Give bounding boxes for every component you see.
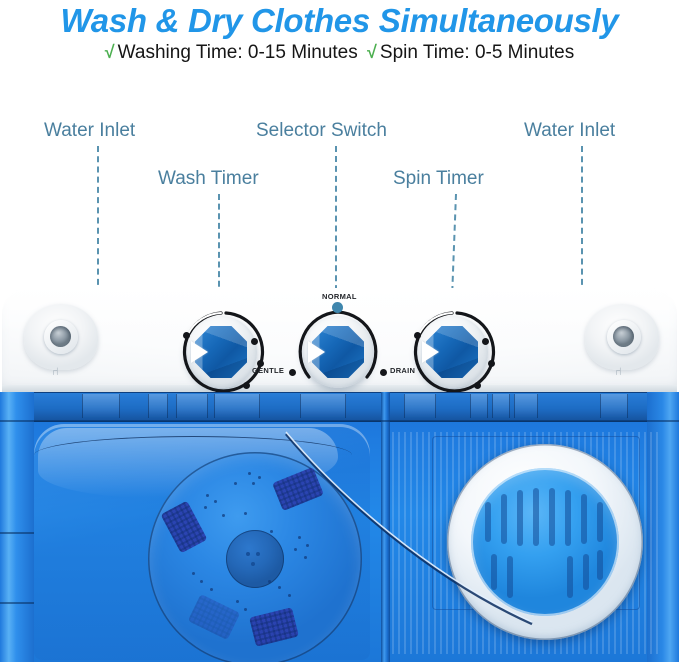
band-segment (176, 394, 208, 418)
knob-scale-mark (474, 382, 481, 389)
band-segment (600, 394, 628, 418)
selector-mark-gentle (289, 369, 296, 376)
wash-selector-scale-arc (291, 305, 385, 399)
knob-scale-mark (251, 338, 258, 345)
knob-scale-mark (183, 332, 190, 339)
selector-mark-drain (380, 369, 387, 376)
band-segment (214, 394, 260, 418)
inlet-glyph-icon: ⑁ (615, 366, 622, 378)
band-segment (470, 394, 488, 418)
inlet-glyph-icon: ⑁ (52, 366, 59, 378)
check-icon: √ (367, 42, 377, 62)
subtitle-row: √Washing Time: 0-15 Minutes √Spin Time: … (0, 40, 679, 65)
inlet-hole (50, 326, 71, 347)
control-panel: ⑁ ⑁ (2, 288, 677, 392)
pulsator-vane (160, 501, 207, 554)
callout-label-spin-timer: Spin Timer (393, 168, 484, 190)
page-title: Wash & Dry Clothes Simultaneously (0, 2, 679, 40)
infographic-canvas: Wash & Dry Clothes Simultaneously √Washi… (0, 0, 679, 662)
callout-label-water-inlet-left: Water Inlet (44, 120, 135, 142)
spin-timer-scale-arc (407, 307, 497, 397)
band-segment (514, 394, 538, 418)
body-left-edge (0, 392, 34, 662)
selector-label-normal: NORMAL (322, 292, 357, 301)
hub-dot (251, 562, 255, 566)
knob-scale-mark (488, 360, 495, 367)
body-seam (0, 420, 679, 422)
washing-time-text: Washing Time: 0-15 Minutes (118, 42, 358, 63)
knob-scale-mark (482, 338, 489, 345)
wash-timer-scale-arc (176, 307, 266, 397)
band-segment (82, 394, 120, 418)
right-water-inlet[interactable]: ⑁ (585, 304, 659, 370)
hub-dot (246, 552, 250, 556)
spin-time-text: Spin Time: 0-5 Minutes (380, 42, 574, 63)
band-segment (404, 394, 436, 418)
left-water-inlet[interactable]: ⑁ (24, 304, 98, 370)
callout-label-wash-timer: Wash Timer (158, 168, 259, 190)
drain-hose (280, 428, 540, 658)
band-segment (492, 394, 510, 418)
washing-time-feature: √Washing Time: 0-15 Minutes (105, 42, 363, 63)
spin-time-feature: √Spin Time: 0-5 Minutes (367, 42, 574, 63)
band-segment (300, 394, 346, 418)
check-icon: √ (105, 42, 115, 62)
knob-scale-mark (243, 382, 250, 389)
pulsator-vane (188, 594, 241, 640)
callout-label-selector-switch: Selector Switch (256, 120, 387, 142)
washing-machine: ⑁ ⑁ (0, 288, 679, 662)
selector-label-gentle: GENTLE (252, 366, 284, 375)
selector-mark-normal (332, 302, 343, 313)
body-seam (0, 602, 34, 604)
hub-dot (256, 552, 260, 556)
callout-label-water-inlet-right: Water Inlet (524, 120, 615, 142)
body-seam (0, 532, 34, 534)
inlet-hole (613, 326, 634, 347)
knob-scale-mark (414, 332, 421, 339)
band-segment (148, 394, 168, 418)
pulsator-hub (226, 530, 284, 588)
